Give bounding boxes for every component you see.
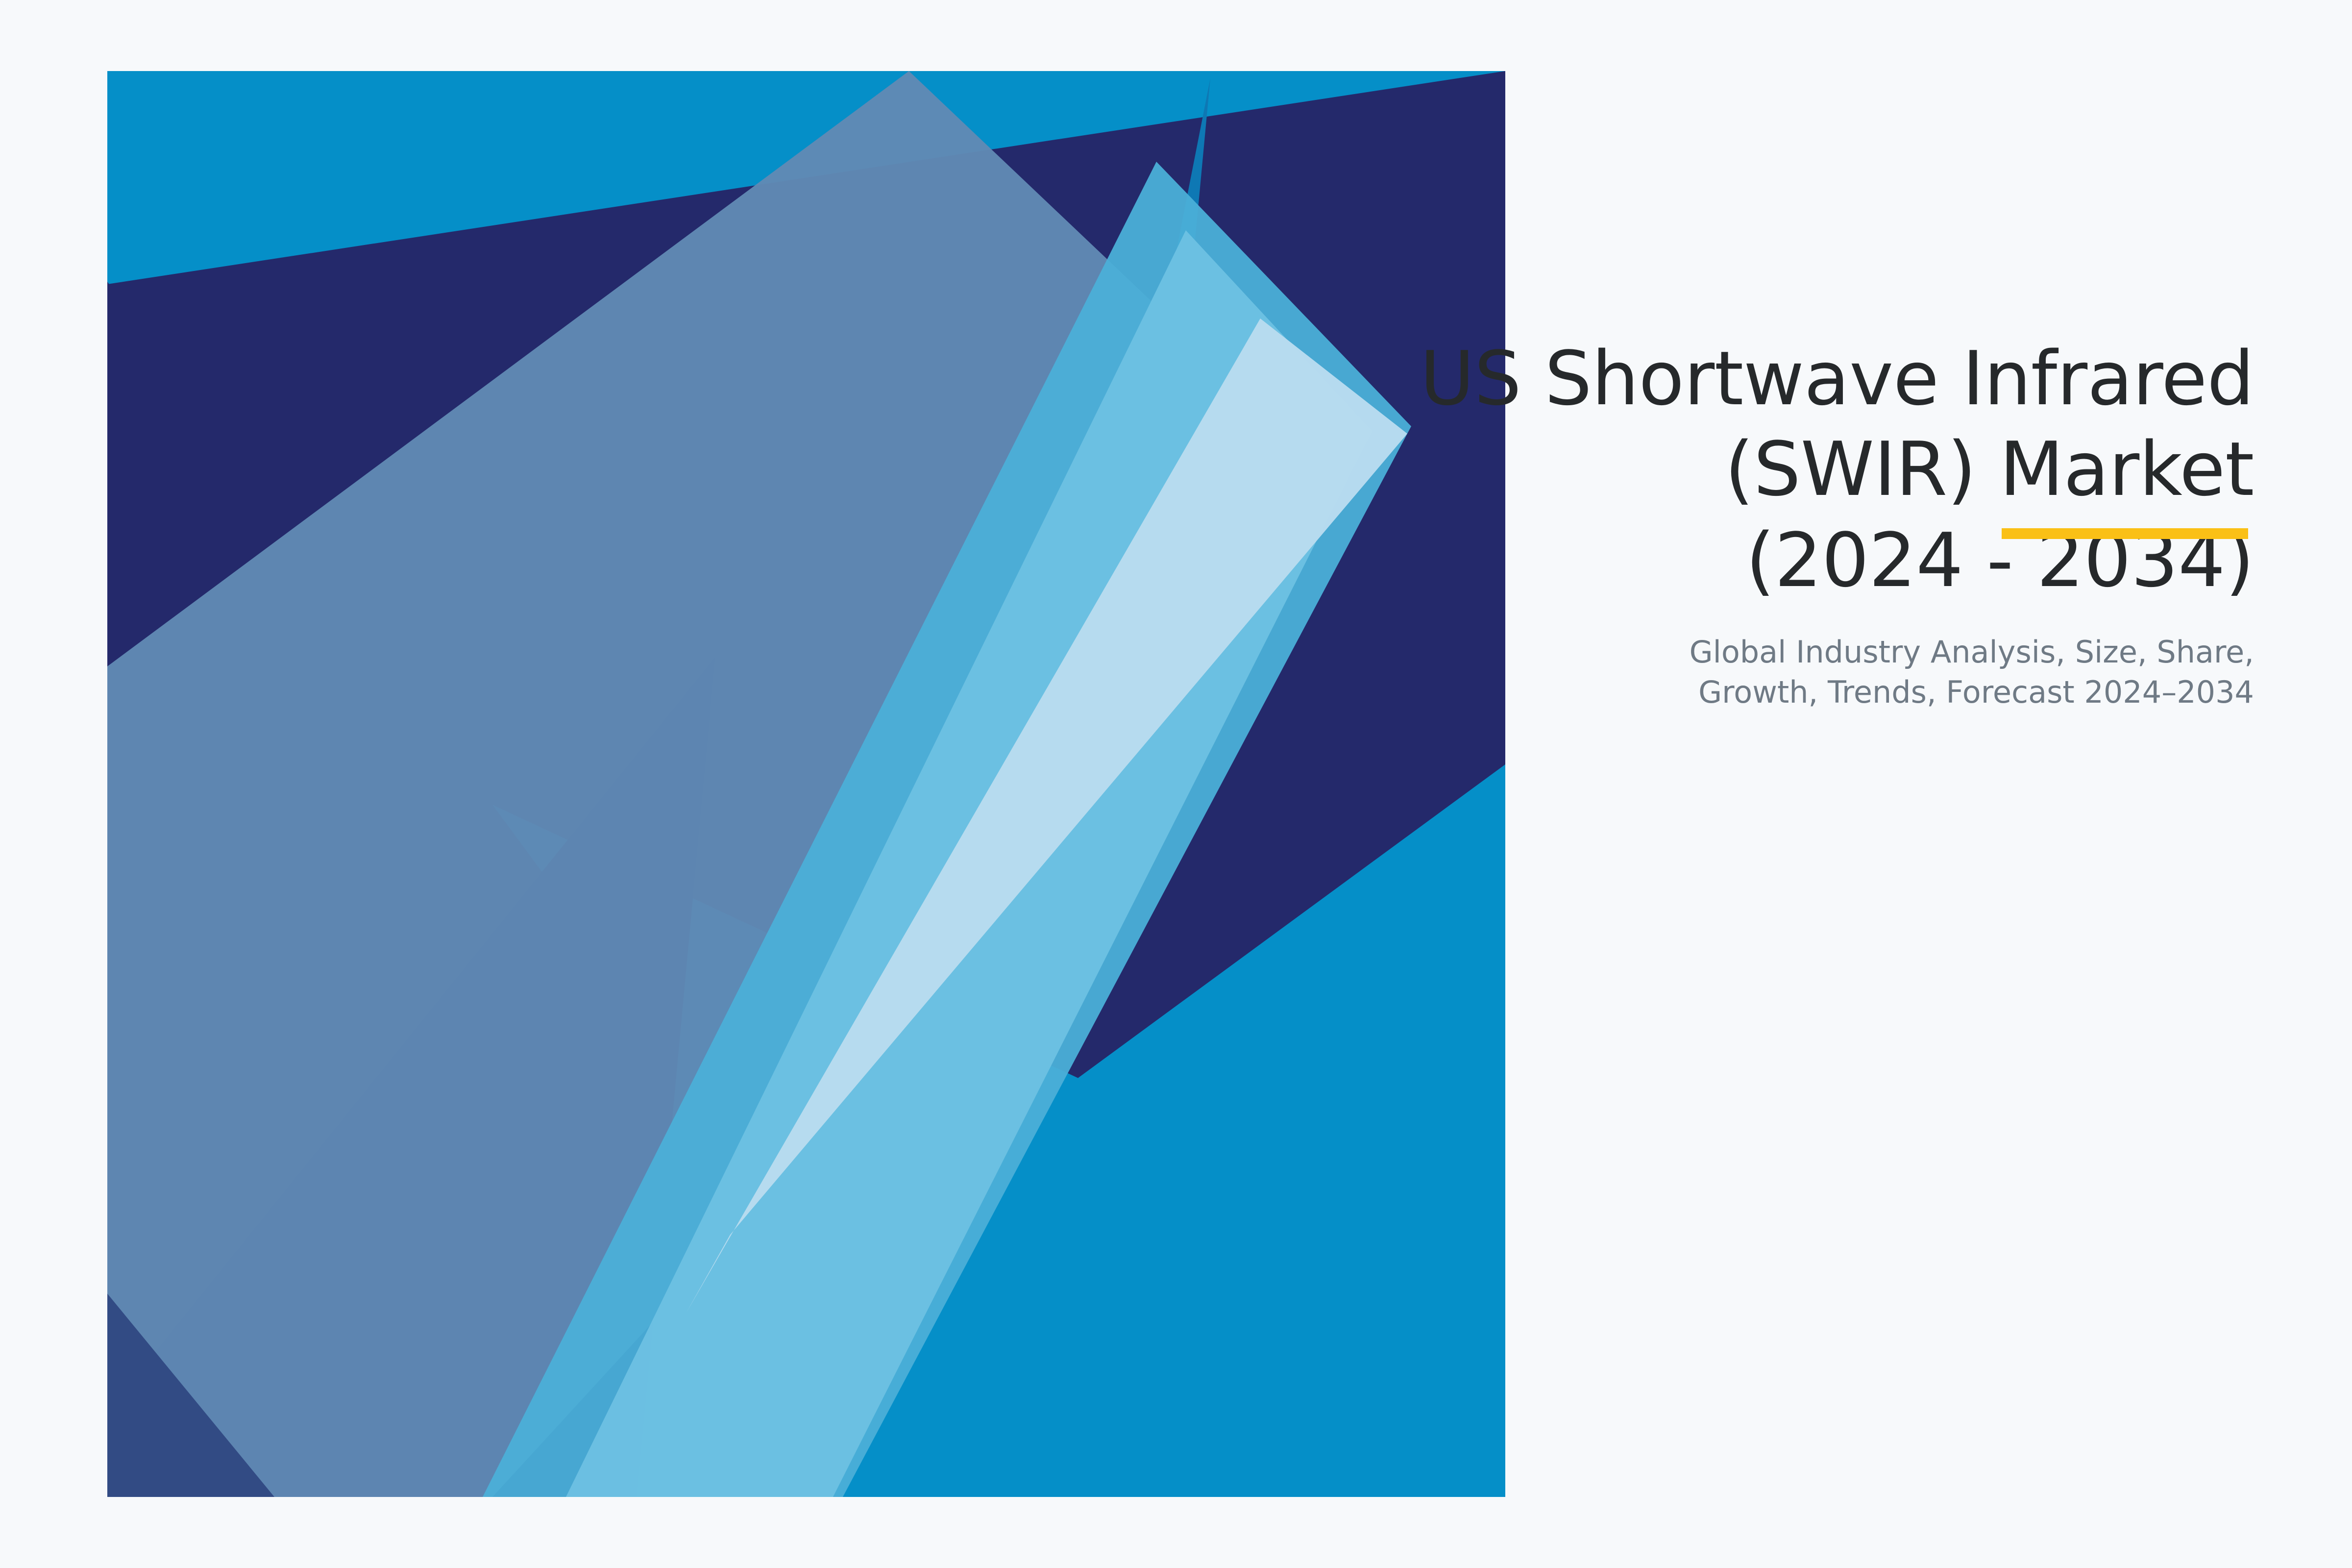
page-subtitle: Global Industry Analysis, Size, Share, G… — [1470, 632, 2254, 713]
page-title: US Shortwave Infrared (SWIR) Market (202… — [1176, 333, 2254, 606]
title-underline-accent — [2002, 528, 2248, 539]
cover-text-block: US Shortwave Infrared (SWIR) Market (202… — [1176, 333, 2254, 606]
abstract-geometric-artwork — [0, 0, 2352, 1568]
report-cover-page: US Shortwave Infrared (SWIR) Market (202… — [0, 0, 2352, 1568]
